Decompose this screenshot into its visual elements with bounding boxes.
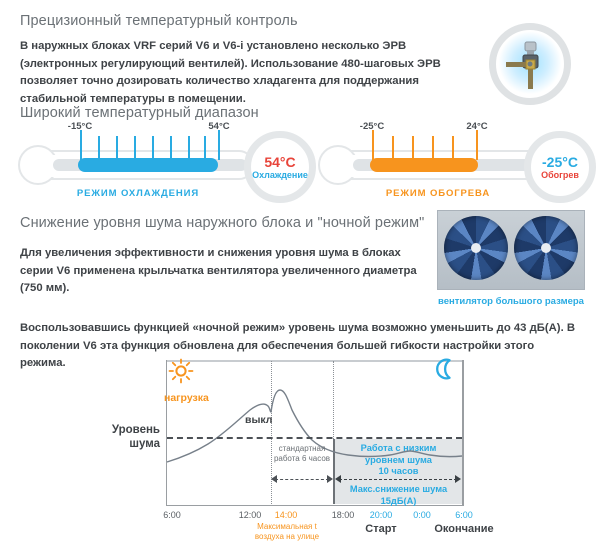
low-noise-region-label: Работа с низким уровнем шума 10 часов bbox=[335, 443, 462, 478]
x-sub-end: Окончание bbox=[434, 523, 493, 535]
arrow-head-right bbox=[455, 475, 461, 483]
section-text-precision: В наружных блоках VRF серий V6 и V6-i ус… bbox=[20, 38, 475, 108]
thermometer-min-label-cooling: -15°C bbox=[68, 121, 92, 132]
gridline-2000 bbox=[333, 361, 334, 439]
badge-heating-min: -25°C Обогрев bbox=[524, 131, 596, 203]
thermometer-tick bbox=[218, 130, 220, 160]
off-label: выкл bbox=[245, 414, 272, 426]
thermometer-bulb-heating bbox=[318, 145, 358, 185]
x-tick-6: 6:00 bbox=[455, 510, 473, 520]
thermometer-tick bbox=[80, 130, 82, 160]
sun-icon bbox=[168, 358, 194, 384]
y-axis-label-line2: шума bbox=[96, 437, 160, 451]
thermometer-tick bbox=[98, 136, 100, 160]
max-temp-line2: воздуха на улице bbox=[232, 532, 342, 542]
fan-photo bbox=[437, 210, 585, 290]
standard-run-line1: стандартная bbox=[271, 444, 333, 454]
thermometer-tick bbox=[152, 136, 154, 160]
expansion-valve-icon bbox=[496, 30, 564, 98]
max-reduction-line1: Макс.снижение шума bbox=[335, 484, 462, 496]
expansion-valve-badge bbox=[489, 23, 571, 105]
section-title-noise: Снижение уровня шума наружного блока и "… bbox=[20, 215, 424, 231]
thermometer-cooling: -15°C 54°C РЕЖИМ ОХЛАЖДЕНИЯ bbox=[18, 128, 258, 206]
thermometer-min-label-heating: -25°C bbox=[360, 121, 384, 132]
noise-load-chart: Работа с низким уровнем шума 10 часов Ма… bbox=[0, 352, 600, 543]
thermometer-fill-heating bbox=[370, 158, 478, 172]
max-reduction-label: Макс.снижение шума 15дБ(А) bbox=[335, 484, 462, 507]
arrow-bar bbox=[339, 479, 457, 480]
x-tick-4: 20:00 bbox=[370, 510, 393, 520]
badge-heating-temp: -25°C bbox=[542, 154, 578, 170]
low-noise-region: Работа с низким уровнем шума 10 часов Ма… bbox=[333, 439, 462, 504]
thermometer-max-label-heating: 24°C bbox=[466, 121, 487, 132]
x-tick-3: 18:00 bbox=[332, 510, 355, 520]
valve-badge-inner bbox=[496, 30, 564, 98]
badge-cooling-temp: 54°C bbox=[264, 154, 295, 170]
section-title-range: Широкий температурный диапазон bbox=[20, 105, 259, 121]
standard-run-arrow bbox=[271, 475, 333, 484]
thermometer-tick bbox=[392, 136, 394, 160]
x-tick-5: 0:00 bbox=[413, 510, 431, 520]
thermometer-tick bbox=[372, 130, 374, 160]
noise-threshold-line bbox=[167, 437, 462, 439]
badge-cooling-mode: Охлаждение bbox=[252, 170, 308, 180]
badge-cooling-max: 54°C Охлаждение bbox=[244, 131, 316, 203]
low-noise-line2: уровнем шума bbox=[335, 455, 462, 467]
low-noise-arrow bbox=[335, 475, 461, 484]
x-tick-0: 6:00 bbox=[163, 510, 181, 520]
fan-blade-right bbox=[514, 216, 578, 280]
arrow-bar bbox=[275, 479, 329, 480]
thermometer-tick bbox=[116, 136, 118, 160]
thermometer-tick bbox=[412, 136, 414, 160]
thermometer-tick bbox=[170, 136, 172, 160]
arrow-head-right bbox=[327, 475, 333, 483]
thermometer-bulb-cooling bbox=[18, 145, 58, 185]
y-axis-label-line1: Уровень bbox=[96, 423, 160, 437]
load-curve-label: нагрузка bbox=[164, 392, 209, 404]
standard-run-label: стандартная работа 6 часов bbox=[271, 444, 333, 464]
thermometer-max-label-cooling: 54°C bbox=[208, 121, 229, 132]
thermometer-tick bbox=[204, 136, 206, 160]
section-title-precision: Прецизионный температурный контроль bbox=[20, 13, 298, 29]
moon-icon bbox=[434, 358, 456, 380]
max-outdoor-temp-note: Максимальная t воздуха на улице bbox=[232, 522, 342, 542]
section-text-noise: Для увеличения эффективности и снижения … bbox=[20, 245, 430, 298]
thermometer-mode-label-heating: РЕЖИМ ОБОГРЕВА bbox=[318, 188, 558, 199]
low-noise-line1: Работа с низким bbox=[335, 443, 462, 455]
x-tick-1: 12:00 bbox=[239, 510, 262, 520]
thermometer-tick bbox=[134, 136, 136, 160]
max-reduction-line2: 15дБ(А) bbox=[335, 496, 462, 508]
x-sub-start: Старт bbox=[365, 523, 396, 535]
thermometer-tick bbox=[432, 136, 434, 160]
badge-heating-mode: Обогрев bbox=[541, 170, 579, 180]
x-tick-2: 14:00 bbox=[275, 510, 298, 520]
thermometer-fill-cooling bbox=[78, 158, 218, 172]
thermometer-tick bbox=[452, 136, 454, 160]
fan-blade-left bbox=[444, 216, 508, 280]
thermometer-mode-label-cooling: РЕЖИМ ОХЛАЖДЕНИЯ bbox=[18, 188, 258, 199]
thermometer-tick bbox=[188, 136, 190, 160]
fan-photo-caption: вентилятор большого размера bbox=[437, 296, 585, 307]
thermometer-heating: -25°C 24°C РЕЖИМ ОБОГРЕВА bbox=[318, 128, 558, 206]
max-temp-line1: Максимальная t bbox=[232, 522, 342, 532]
y-axis-label: Уровень шума bbox=[96, 423, 160, 451]
thermometer-tick bbox=[476, 130, 478, 160]
standard-run-line2: работа 6 часов bbox=[271, 454, 333, 464]
